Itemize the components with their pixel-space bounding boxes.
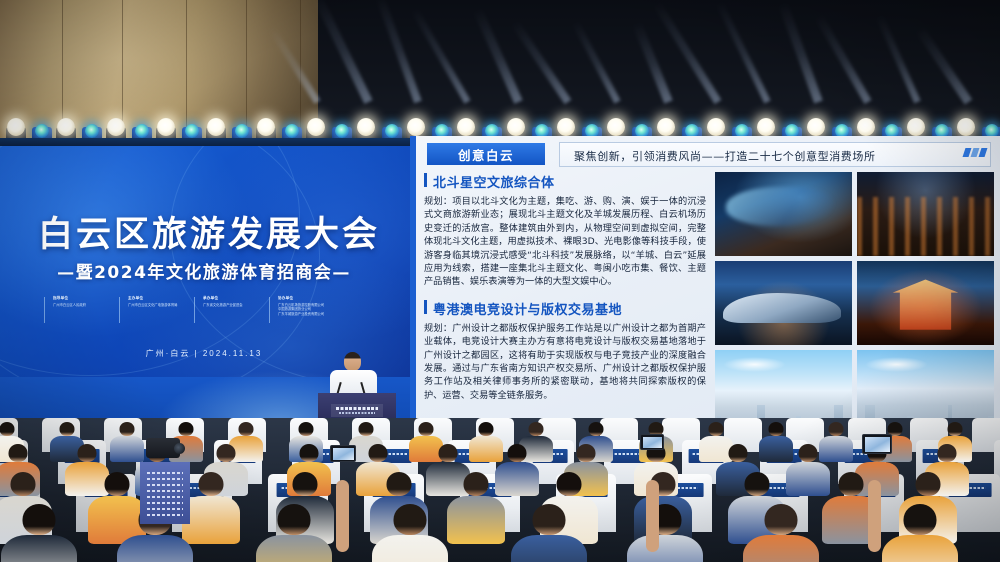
phone-camera: [330, 445, 356, 462]
audience-head: [59, 422, 74, 436]
render-image: [857, 172, 994, 256]
audience-head: [386, 472, 411, 496]
banner-subtitle: —暨2024年文化旅游体育招商会—: [38, 258, 370, 283]
section-heading: 北斗星空文旅综合体: [424, 172, 706, 191]
speaker-head: [344, 352, 361, 371]
audience-head: [292, 472, 317, 496]
audience-head: [11, 472, 36, 496]
audience-head: [937, 444, 956, 462]
banner-title: 白云区旅游发展大会: [38, 216, 370, 254]
audience-head: [557, 472, 582, 496]
raised-arm: [646, 480, 659, 552]
audience-head: [278, 504, 311, 535]
audience-torso: [117, 535, 193, 562]
audience-head: [119, 422, 134, 436]
audience-member: [511, 504, 587, 562]
audience-member: [372, 504, 448, 562]
audience-head: [198, 472, 223, 496]
audience-head: [904, 504, 937, 535]
audience-head: [0, 422, 15, 436]
camera-lens-icon: [174, 443, 185, 454]
audience-head: [418, 422, 433, 436]
audience-member: [256, 504, 332, 562]
audience-head: [948, 422, 963, 436]
sponsor-column: 主办单位广州市白云区文化广电旅游体育局: [119, 296, 194, 316]
audience-head: [9, 444, 28, 462]
audience-head: [839, 472, 864, 496]
audience-head: [104, 472, 129, 496]
audience-head: [478, 422, 493, 436]
audience-head: [239, 422, 254, 436]
audience-member: [743, 504, 819, 562]
raised-arm: [868, 480, 881, 552]
section-body: 规划：项目以北斗文化为主题，集吃、游、购、演、娱于一体的沉浸式文商旅游新业态；展…: [424, 195, 706, 289]
audience-head: [828, 422, 843, 436]
conference-photo: 白云区旅游发展大会 —暨2024年文化旅游体育招商会— 指导单位广州市白云区人民…: [0, 0, 1000, 562]
audience-head: [729, 444, 748, 462]
audience-head: [589, 422, 604, 436]
slide-image-column: [715, 172, 994, 442]
audience-torso: [1, 535, 77, 562]
render-image: [715, 172, 852, 256]
slide-tagline-box: 聚焦创新，引领消费风尚——打造二十七个创意型消费场所: [559, 142, 991, 167]
audience-head: [768, 422, 783, 436]
header-marks-icon: [964, 148, 986, 157]
audience-head: [438, 444, 457, 462]
audience-member: [447, 472, 505, 544]
slide-tagline: 聚焦创新，引领消费风尚——打造二十七个创意型消费场所: [574, 148, 876, 164]
audience-head: [577, 444, 596, 462]
audience-member: [1, 504, 77, 562]
raised-arm: [336, 480, 349, 552]
audience-head: [508, 444, 527, 462]
slide-section-2: 粤港澳电竞设计与版权交易基地 规划：广州设计之都版权保护服务工作站是以广州设计之…: [424, 299, 706, 402]
audience-head: [299, 444, 318, 462]
phone-screen: [643, 437, 662, 448]
video-camera: [146, 438, 180, 458]
slide-body: 北斗星空文旅综合体 规划：项目以北斗文化为主题，集吃、游、购、演、娱于一体的沉浸…: [424, 172, 994, 442]
audience-head: [369, 444, 388, 462]
phone-screen: [865, 437, 890, 452]
slide-chip-label: 创意白云: [458, 145, 514, 164]
audience-head: [533, 504, 566, 535]
slide-section-1: 北斗星空文旅综合体 规划：项目以北斗文化为主题，集吃、游、购、演、娱于一体的沉浸…: [424, 172, 706, 289]
audience-head: [23, 504, 56, 535]
sponsor-role: 承办单位: [203, 296, 269, 301]
sponsor-role: 协办单位: [278, 296, 344, 301]
audience-member: [627, 504, 703, 562]
sponsor-list: 指导单位广州市白云区人民政府主办单位广州市白云区文化广电旅游体育局承办单位广东省…: [44, 296, 344, 316]
sponsor-names: 广东白云机场旅游控股有限公司中国旅游集团旅业公司广东羊城旅游产业投资有限公司: [278, 303, 344, 317]
phone-camera: [862, 434, 892, 454]
program-sheet: [140, 462, 190, 524]
audience-torso: [372, 535, 448, 562]
audience-torso: [256, 535, 332, 562]
audience-torso: [882, 535, 958, 562]
audience-head: [217, 444, 236, 462]
audience-head: [78, 444, 97, 462]
sponsor-names: 广州市白云区人民政府: [53, 303, 119, 308]
audience-head: [529, 422, 544, 436]
section-body: 规划：广州设计之都版权保护服务工作站是以广州设计之都为首期产业载体，电竞设计大赛…: [424, 322, 706, 402]
sponsor-column: 协办单位广东白云机场旅游控股有限公司中国旅游集团旅业公司广东羊城旅游产业投资有限…: [269, 296, 344, 316]
audience-torso: [627, 535, 703, 562]
audience-head: [916, 472, 941, 496]
sponsor-column: 指导单位广州市白云区人民政府: [44, 296, 119, 316]
render-image-grid: [715, 172, 994, 345]
sponsor-column: 承办单位广东省文化旅游产业促进会: [194, 296, 269, 316]
section-heading: 粤港澳电竞设计与版权交易基地: [424, 299, 706, 318]
slide-header: 创意白云 聚焦创新，引领消费风尚——打造二十七个创意型消费场所: [422, 140, 994, 168]
sponsor-role: 指导单位: [53, 296, 119, 301]
sponsor-role: 主办单位: [128, 296, 194, 301]
audience-head: [179, 422, 194, 436]
slide-chip-badge: 创意白云: [427, 143, 545, 165]
sponsor-names: 广东省文化旅游产业促进会: [203, 303, 269, 308]
audience-torso: [743, 535, 819, 562]
audience-head: [745, 472, 770, 496]
audience-head: [765, 504, 798, 535]
audience-member: [882, 504, 958, 562]
audience-head: [708, 422, 723, 436]
presentation-screen: 创意白云 聚焦创新，引领消费风尚——打造二十七个创意型消费场所 北斗星空文旅综合…: [410, 136, 1000, 446]
audience-torso: [447, 496, 505, 544]
render-image: [715, 261, 852, 345]
audience-head: [394, 504, 427, 535]
phone-screen: [333, 448, 354, 460]
event-led-banner: 白云区旅游发展大会 —暨2024年文化旅游体育招商会— 指导单位广州市白云区人民…: [0, 146, 410, 377]
podium-sign: [331, 404, 383, 417]
hall-ceiling: [0, 0, 1000, 146]
audience-seating: [0, 418, 1000, 562]
render-image: [857, 261, 994, 345]
audience-head: [463, 472, 488, 496]
audience-head: [358, 422, 373, 436]
audience-head: [798, 444, 817, 462]
phone-camera: [640, 434, 664, 450]
audience-torso: [511, 535, 587, 562]
audience-head: [299, 422, 314, 436]
sponsor-names: 广州市白云区文化广电旅游体育局: [128, 303, 194, 308]
slide-text-column: 北斗星空文旅综合体 规划：项目以北斗文化为主题，集吃、游、购、演、娱于一体的沉浸…: [424, 172, 706, 442]
